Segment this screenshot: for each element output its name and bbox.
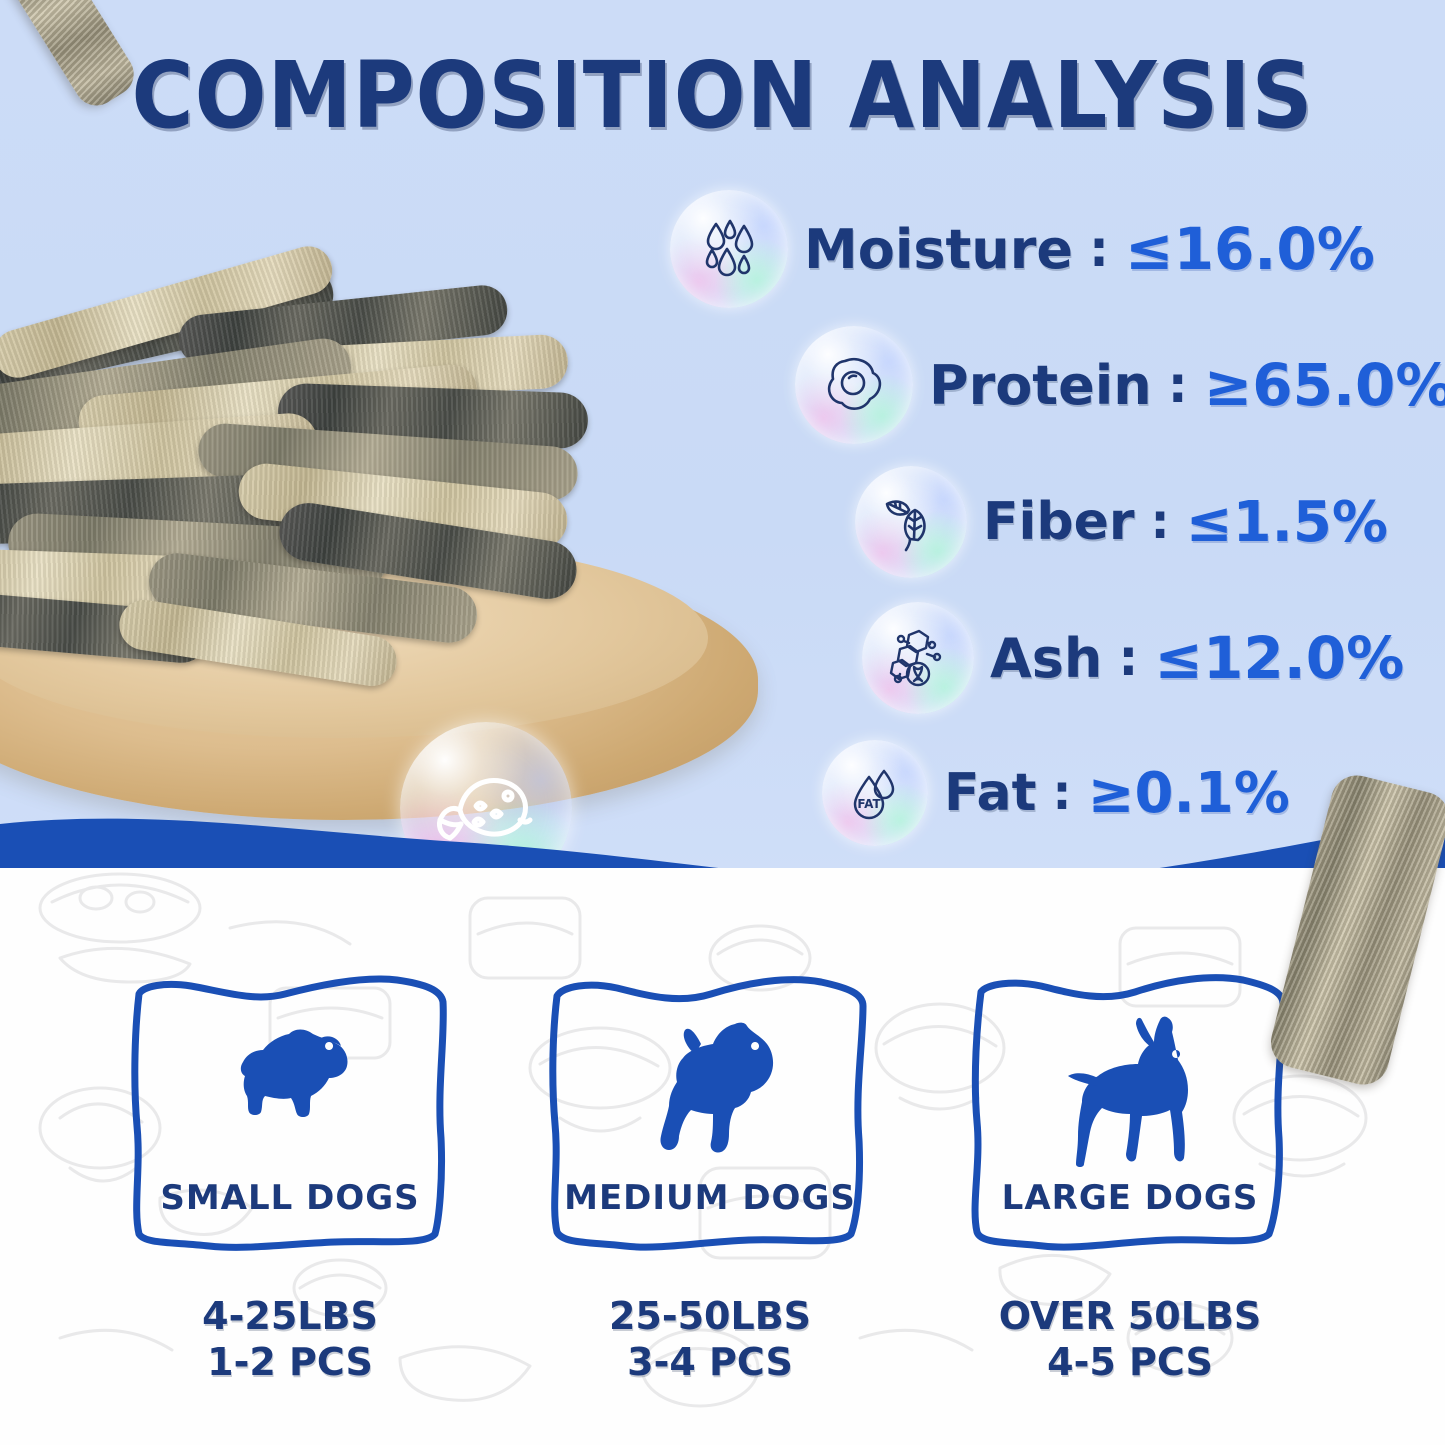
molecule-dna-icon bbox=[862, 602, 974, 714]
feeding-meta-small: 4-25LBS 1-2 PCS bbox=[125, 1293, 455, 1386]
nutrition-label: Protein bbox=[929, 354, 1152, 417]
infographic-page: COMPOSITION ANALYSIS Moisture : bbox=[0, 0, 1445, 1445]
nutrition-colon: : bbox=[1150, 494, 1169, 550]
nutrition-value: ≤16.0% bbox=[1125, 215, 1375, 283]
feeding-card-small: SMALL DOGS bbox=[125, 968, 455, 1258]
pieces-count: 1-2 PCS bbox=[125, 1339, 455, 1385]
small-dog-icon bbox=[125, 1016, 455, 1131]
fish-skin-roll-pile bbox=[0, 270, 648, 700]
pieces-count: 4-5 PCS bbox=[965, 1339, 1295, 1385]
bottom-section: SMALL DOGS MEDIUM DOGS bbox=[0, 868, 1445, 1445]
nutrition-label: Fiber bbox=[983, 492, 1134, 552]
nutrition-row-protein: Protein : ≥65.0% bbox=[795, 326, 1445, 444]
medium-dog-icon bbox=[545, 1016, 875, 1161]
fried-egg-icon bbox=[795, 326, 913, 444]
weight-range: OVER 50LBS bbox=[965, 1293, 1295, 1339]
nutrition-colon: : bbox=[1089, 220, 1109, 278]
pieces-count: 3-4 PCS bbox=[545, 1339, 875, 1385]
large-dog-icon bbox=[965, 1016, 1295, 1173]
weight-range: 25-50LBS bbox=[545, 1293, 875, 1339]
leaf-sprout-icon bbox=[855, 466, 967, 578]
page-title: COMPOSITION ANALYSIS bbox=[58, 42, 1387, 149]
card-title: LARGE DOGS bbox=[965, 1178, 1295, 1218]
nutrition-row-ash: Ash : ≤12.0% bbox=[862, 602, 1404, 714]
nutrition-colon: : bbox=[1168, 356, 1188, 414]
feeding-card-large: LARGE DOGS bbox=[965, 968, 1295, 1258]
nutrition-value: ≥65.0% bbox=[1204, 351, 1445, 419]
card-title: MEDIUM DOGS bbox=[545, 1178, 875, 1218]
nutrition-label: Ash bbox=[990, 627, 1102, 690]
feeding-meta-medium: 25-50LBS 3-4 PCS bbox=[545, 1293, 875, 1386]
water-drops-icon bbox=[670, 190, 788, 308]
nutrition-row-moisture: Moisture : ≤16.0% bbox=[670, 190, 1375, 308]
feeding-meta-large: OVER 50LBS 4-5 PCS bbox=[965, 1293, 1295, 1386]
feeding-card-medium: MEDIUM DOGS bbox=[545, 968, 875, 1258]
nutrition-value: ≤1.5% bbox=[1186, 490, 1388, 555]
weight-range: 4-25LBS bbox=[125, 1293, 455, 1339]
nutrition-value: ≤12.0% bbox=[1154, 624, 1404, 692]
nutrition-colon: : bbox=[1118, 629, 1138, 687]
card-title: SMALL DOGS bbox=[125, 1178, 455, 1218]
nutrition-row-fiber: Fiber : ≤1.5% bbox=[855, 466, 1388, 578]
nutrition-label: Moisture bbox=[804, 218, 1073, 281]
top-section: COMPOSITION ANALYSIS Moisture : bbox=[0, 0, 1445, 880]
